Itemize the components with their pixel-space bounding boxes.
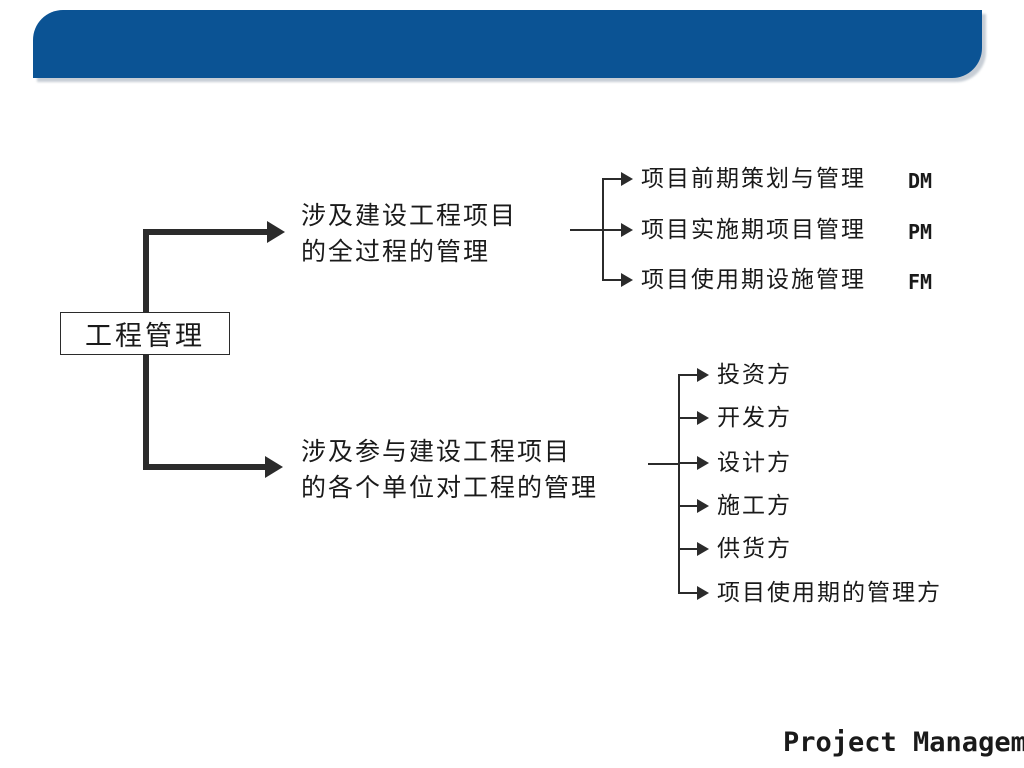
root-arrow-upper-icon — [267, 221, 285, 243]
branch-2-item-3-arrow-icon — [697, 456, 709, 470]
branch-2-item-2-label: 开发方 — [717, 405, 792, 431]
slide-canvas: 工程管理 涉及建设工程项目 的全过程的管理 项目前期策划与管理 DM 项目实施期… — [0, 0, 1024, 768]
root-node-label: 工程管理 — [61, 313, 229, 354]
branch-2-item-1-label: 投资方 — [717, 362, 792, 388]
branch-2-item-6-arrow-icon — [697, 586, 709, 600]
branch-2-item-1-arrow-icon — [697, 368, 709, 382]
branch-1-line-2: 的全过程的管理 — [301, 234, 517, 270]
branch-2-item-5-arrow-icon — [697, 542, 709, 556]
header-banner — [33, 10, 982, 78]
branch-2-text: 涉及参与建设工程项目 的各个单位对工程的管理 — [301, 434, 598, 506]
root-node-box[interactable]: 工程管理 — [60, 312, 230, 355]
branch-1-item-3-code: FM — [908, 270, 932, 294]
branch-1-item-2-arrow-icon — [621, 223, 633, 237]
branch-1-item-3-arrow-icon — [621, 273, 633, 287]
branch-2-item-6-label: 项目使用期的管理方 — [717, 580, 942, 606]
branch-1-line-1: 涉及建设工程项目 — [301, 198, 517, 234]
branch-1-item-1-arrow-icon — [621, 172, 633, 186]
root-arrow-lower-icon — [265, 456, 283, 478]
branch-1-text: 涉及建设工程项目 的全过程的管理 — [301, 198, 517, 270]
branch-1-item-1-code: DM — [908, 169, 932, 193]
root-arm-upper — [143, 229, 269, 235]
branch-1-item-3-label: 项目使用期设施管理 — [641, 267, 866, 293]
branch-2-connector-stub — [648, 463, 680, 465]
root-arm-lower — [143, 464, 267, 470]
branch-2-connector-trunk — [678, 374, 680, 593]
branch-2-item-5-label: 供货方 — [717, 536, 792, 562]
branch-2-item-4-label: 施工方 — [717, 493, 792, 519]
footer-brand: Project Management — [783, 727, 1024, 758]
branch-2-line-2: 的各个单位对工程的管理 — [301, 470, 598, 506]
branch-2-item-3-label: 设计方 — [717, 450, 792, 476]
branch-1-connector-stub — [570, 229, 604, 231]
branch-1-item-2-code: PM — [908, 220, 932, 244]
branch-2-line-1: 涉及参与建设工程项目 — [301, 434, 598, 470]
branch-1-item-2-label: 项目实施期项目管理 — [641, 217, 866, 243]
branch-1-item-1-label: 项目前期策划与管理 — [641, 166, 866, 192]
branch-2-item-2-arrow-icon — [697, 411, 709, 425]
branch-2-item-4-arrow-icon — [697, 499, 709, 513]
